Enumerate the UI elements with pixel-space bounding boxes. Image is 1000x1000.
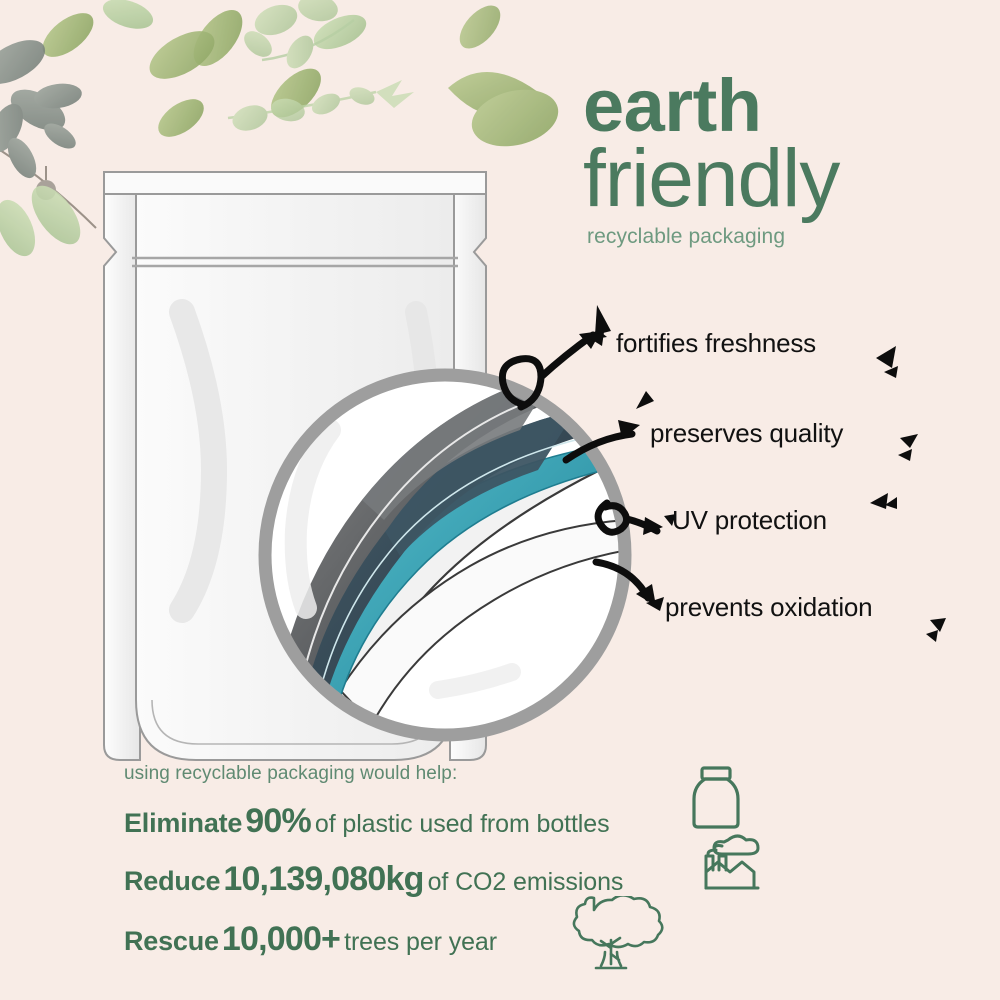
stat-rest: trees per year bbox=[344, 928, 497, 956]
feature-label-prevents-oxidation: prevents oxidation bbox=[665, 592, 872, 623]
headline-block: earth friendly recyclable packaging bbox=[583, 72, 1000, 249]
stat-rest: of CO2 emissions bbox=[428, 868, 624, 896]
stat-value: 90% bbox=[245, 802, 311, 840]
bottle-icon bbox=[686, 764, 746, 830]
stat-row: Reduce10,139,080kgof CO2 emissions bbox=[124, 860, 623, 899]
stat-value: 10,000+ bbox=[222, 920, 340, 958]
stat-row: Eliminate90%of plastic used from bottles bbox=[124, 802, 609, 841]
tree-icon bbox=[556, 896, 666, 974]
stat-value: 10,139,080kg bbox=[223, 860, 423, 898]
factory-icon bbox=[700, 830, 766, 892]
stats-intro-text: using recyclable packaging would help: bbox=[124, 763, 457, 785]
stat-row: Rescue10,000+trees per year bbox=[124, 920, 497, 959]
feature-label-uv-protection: UV protection bbox=[672, 505, 827, 536]
headline-line-2: friendly bbox=[583, 140, 1000, 219]
stat-verb: Reduce bbox=[124, 866, 220, 896]
feature-label-fortifies-freshness: fortifies freshness bbox=[616, 328, 816, 359]
feature-label-preserves-quality: preserves quality bbox=[650, 418, 843, 449]
headline-subtitle: recyclable packaging bbox=[587, 225, 1000, 249]
stat-verb: Eliminate bbox=[124, 808, 242, 838]
earth-friendly-packaging-poster: earth friendly recyclable packaging fort… bbox=[0, 0, 1000, 1000]
stat-verb: Rescue bbox=[124, 926, 219, 956]
headline-line-1: earth bbox=[583, 72, 1000, 140]
stat-rest: of plastic used from bottles bbox=[315, 810, 610, 838]
